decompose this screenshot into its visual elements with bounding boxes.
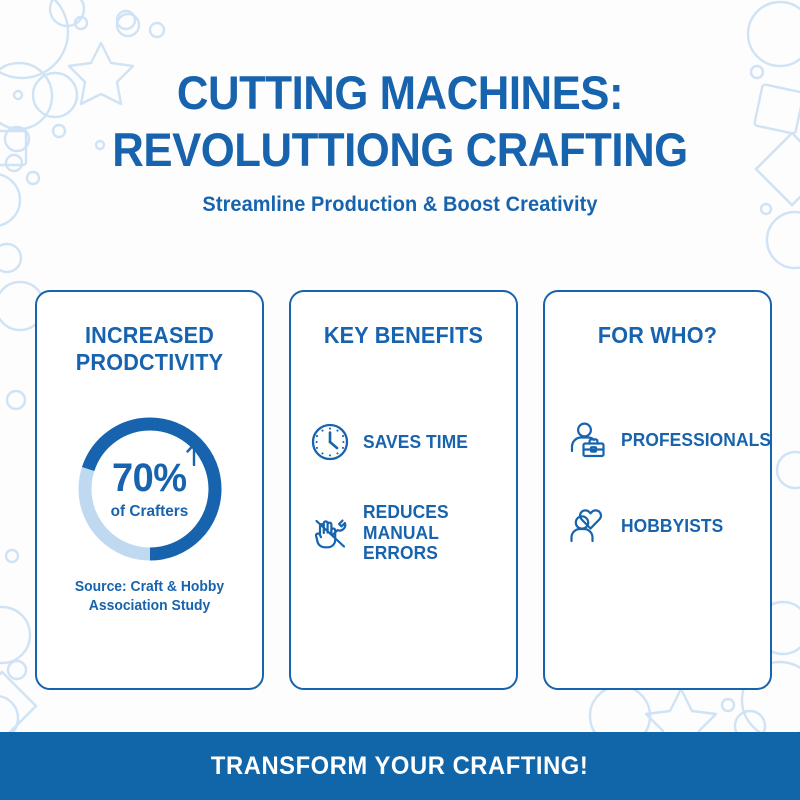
poster-header: CUTTING MACHINES: REVOLUTTIONG CRAFTING … — [0, 64, 800, 217]
decor-circle — [767, 212, 800, 268]
source-line-2: Association Study — [42, 597, 258, 616]
benefit-label: REDUCES MANUAL ERRORS — [363, 502, 494, 564]
decor-circle — [777, 452, 800, 488]
card-title: KEY BENEFITS — [298, 322, 510, 349]
page-title-line-1: CUTTING MACHINES: — [28, 64, 772, 121]
list-item-reduces-manual-errors: REDUCES MANUAL ERRORS — [309, 502, 502, 564]
benefit-label: SAVES TIME — [363, 432, 468, 453]
card-for-who: FOR WHO? — [543, 290, 772, 690]
donut-caption: of Crafters — [111, 503, 189, 521]
page-subtitle: Streamline Production & Boost Creativity — [20, 193, 780, 217]
source-note: Source: Craft & Hobby Association Study — [42, 578, 258, 616]
page-title-line-2: REVOLUTTIONG CRAFTING — [28, 121, 772, 178]
benefit-label-line-1: SAVES TIME — [363, 431, 468, 452]
decor-circle — [8, 661, 26, 679]
benefits-list: SAVES TIME — [309, 420, 502, 602]
list-item-hobbyists: HOBBYISTS — [567, 504, 760, 548]
audience-label-line-1: HOBBYISTS — [621, 515, 723, 536]
decor-circle — [117, 14, 139, 36]
card-key-benefits: KEY BENEFITS — [289, 290, 518, 690]
list-item-saves-time: SAVES TIME — [309, 420, 502, 464]
decor-circle — [722, 699, 734, 711]
card-title-line-1: FOR WHO? — [598, 322, 717, 348]
cards-row: INCREASED PRODCTIVITY 70% of Crafters — [35, 290, 772, 692]
card-title-line-2: PRODCTIVITY — [44, 349, 256, 376]
arrow-up-icon — [185, 442, 203, 466]
audience-label: PROFESSIONALS — [621, 430, 771, 451]
audience-list: PROFESSIONALS HOBB — [567, 418, 760, 590]
source-line-1: Source: Craft & Hobby — [75, 579, 224, 595]
donut-center-labels: 70% of Crafters — [71, 410, 229, 568]
audience-label-line-1: PROFESSIONALS — [621, 429, 771, 450]
decor-circle — [6, 550, 18, 562]
decor-circle — [748, 2, 800, 66]
card-title-line-1: INCREASED — [85, 322, 214, 348]
decor-diamond — [0, 672, 36, 740]
decor-circle — [0, 607, 30, 663]
card-title: INCREASED PRODCTIVITY — [44, 322, 256, 376]
person-heart-icon — [567, 505, 609, 547]
card-title: FOR WHO? — [552, 322, 764, 349]
donut-percent-label: 70% — [112, 459, 187, 498]
card-title-line-1: KEY BENEFITS — [324, 322, 483, 348]
decor-circle — [0, 244, 21, 272]
footer-banner: TRANSFORM YOUR CRAFTING! — [0, 732, 800, 800]
clock-icon — [309, 421, 351, 463]
decor-circle — [7, 391, 25, 409]
infographic-poster: CUTTING MACHINES: REVOLUTTIONG CRAFTING … — [0, 0, 800, 800]
decor-circle — [150, 23, 164, 37]
call-to-action-text: TRANSFORM YOUR CRAFTING! — [211, 752, 588, 781]
person-briefcase-icon — [567, 419, 609, 461]
list-item-professionals: PROFESSIONALS — [567, 418, 760, 462]
benefit-label-line-1: REDUCES — [363, 501, 449, 522]
donut-chart: 70% of Crafters — [71, 410, 229, 568]
audience-label: HOBBYISTS — [621, 516, 723, 537]
no-manual-wrench-icon — [309, 512, 351, 554]
card-increased-productivity: INCREASED PRODCTIVITY 70% of Crafters — [35, 290, 264, 690]
benefit-label-line-2: MANUAL ERRORS — [363, 523, 494, 564]
